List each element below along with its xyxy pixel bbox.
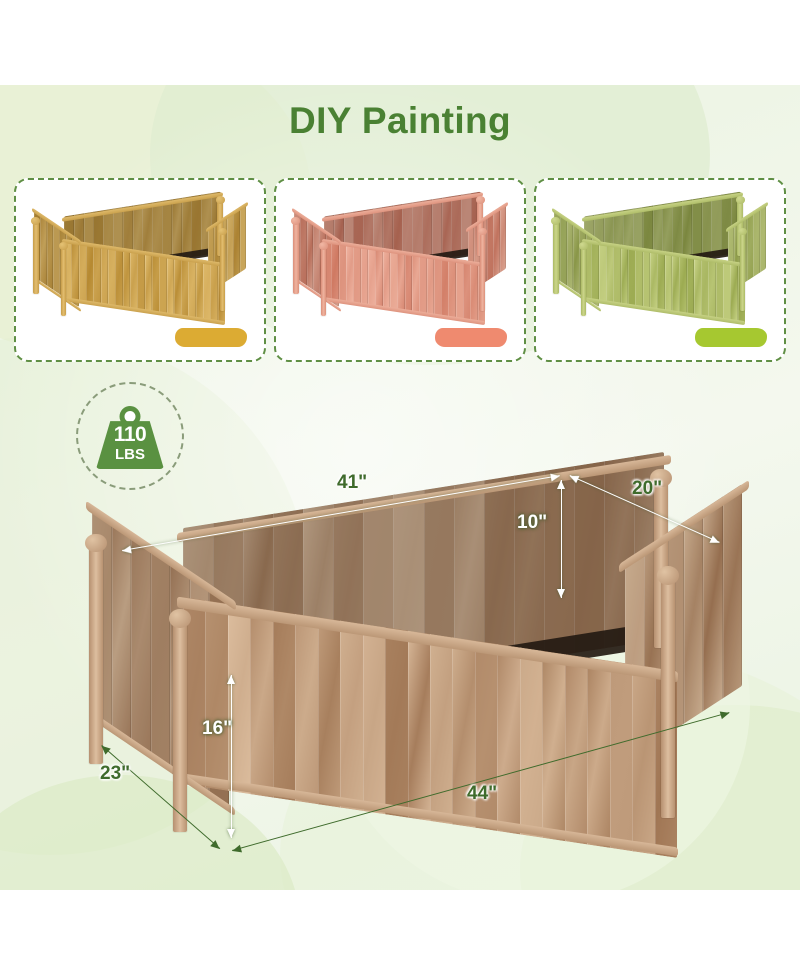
diy-card[interactable] — [534, 178, 786, 362]
planter-finial-back-left — [291, 217, 300, 224]
wood-slat — [181, 196, 191, 259]
planter-post-front-left — [321, 248, 327, 316]
planter-post-front-right — [480, 234, 486, 312]
planter-post-front-left — [581, 248, 587, 316]
wood-slat — [441, 196, 451, 259]
wood-slat — [701, 196, 711, 259]
wood-slat — [233, 206, 239, 276]
planter-finial-front-right — [738, 228, 747, 235]
planter-post-front-right — [220, 234, 226, 312]
wood-slat — [318, 617, 342, 808]
planter-illustration — [554, 204, 766, 322]
wood-slat — [723, 484, 743, 698]
planter-finial-back-right — [736, 196, 745, 203]
planter-finial-front-left — [59, 242, 68, 249]
wood-slat — [493, 206, 499, 276]
planter-post-back-left — [293, 223, 299, 294]
planter-finial-front-left — [169, 609, 191, 628]
dimension-label-overall-height: 16" — [202, 718, 232, 740]
wood-slat — [703, 497, 723, 712]
wood-slat — [747, 210, 753, 280]
wood-slat — [587, 657, 611, 848]
wood-slat — [497, 644, 521, 835]
wood-slat — [240, 202, 246, 272]
wood-slat — [191, 195, 201, 258]
wood-slat — [363, 624, 387, 815]
diy-card-inner — [536, 180, 784, 360]
wood-slat — [131, 531, 151, 753]
wood-slat — [484, 475, 516, 667]
page-title: DIY Painting — [0, 100, 800, 142]
wood-slat — [273, 611, 297, 802]
dimension-label-overall-width: 23" — [100, 763, 130, 785]
dimension-label-inner-depth: 10" — [517, 512, 547, 534]
planter-finial-back-right — [216, 196, 225, 203]
paint-swatch-color — [176, 329, 246, 346]
paint-swatch — [696, 329, 766, 346]
diy-card-inner — [276, 180, 524, 360]
diy-card-list — [14, 178, 786, 358]
dimension-label-inner-width: 20" — [632, 478, 662, 500]
wood-slat — [172, 198, 182, 261]
planter-post-back-left — [33, 223, 39, 294]
wood-slat — [753, 206, 759, 276]
wood-slat — [632, 664, 656, 855]
wood-slat — [520, 647, 544, 838]
wood-slat — [451, 195, 461, 258]
planter-post-front-right — [661, 580, 675, 818]
planter-illustration — [294, 204, 506, 322]
wood-slat — [432, 198, 442, 261]
planter-finial-back-left — [31, 217, 40, 224]
wood-slat — [565, 654, 589, 845]
wood-slat — [151, 545, 171, 767]
planter-finial-back-left — [551, 217, 560, 224]
planter-illustration — [34, 204, 246, 322]
dimension-label-inner-length: 41" — [337, 472, 367, 494]
wood-slat — [408, 631, 432, 822]
top-white-margin — [0, 0, 800, 85]
planter-finial-front-right — [478, 228, 487, 235]
planter-finial-back-left — [85, 534, 107, 553]
planter-finial-front-right — [218, 228, 227, 235]
wood-slat — [711, 195, 721, 258]
product-hero: 41"20"10"16"23"44" — [92, 450, 742, 870]
wood-slat — [514, 471, 546, 663]
planter-post-front-left — [61, 248, 67, 316]
product-planter-illustration — [92, 490, 742, 850]
planter-finial-front-left — [579, 242, 588, 249]
wood-slat — [227, 210, 233, 280]
planter-finial-front-left — [319, 242, 328, 249]
wood-slat — [542, 651, 566, 842]
wood-slat — [340, 621, 364, 812]
wood-slat — [430, 634, 454, 825]
planter-finial-back-right — [476, 196, 485, 203]
paint-swatch — [436, 329, 506, 346]
infographic-page: DIY Painting 110 LBS 41"20"10"16"23"44" — [0, 0, 800, 977]
wood-slat — [684, 509, 704, 724]
weight-value: 110 — [96, 424, 164, 445]
wood-slat — [487, 210, 493, 280]
paint-swatch-color — [696, 329, 766, 346]
wood-slat — [205, 600, 229, 791]
wood-slat — [544, 466, 576, 658]
bottom-white-margin — [0, 890, 800, 977]
planter-finial-front-right — [657, 566, 679, 585]
wood-slat — [385, 627, 409, 818]
paint-swatch-color — [436, 329, 506, 346]
arrow-overall-height — [231, 675, 232, 838]
arrow-inner-depth — [561, 480, 562, 598]
planter-post-back-left — [553, 223, 559, 294]
wood-slat — [500, 202, 506, 272]
planter-post-front-left — [173, 623, 187, 832]
paint-swatch — [176, 329, 246, 346]
diy-card[interactable] — [274, 178, 526, 362]
planter-post-front-right — [740, 234, 746, 312]
wood-slat — [692, 198, 702, 261]
diy-card[interactable] — [14, 178, 266, 362]
dimension-label-overall-length: 44" — [467, 783, 497, 805]
wood-slat — [760, 202, 766, 272]
wood-slat — [295, 614, 319, 805]
wood-slat — [610, 661, 634, 852]
diy-card-inner — [16, 180, 264, 360]
wood-slat — [250, 607, 274, 798]
planter-post-back-left — [89, 548, 103, 764]
